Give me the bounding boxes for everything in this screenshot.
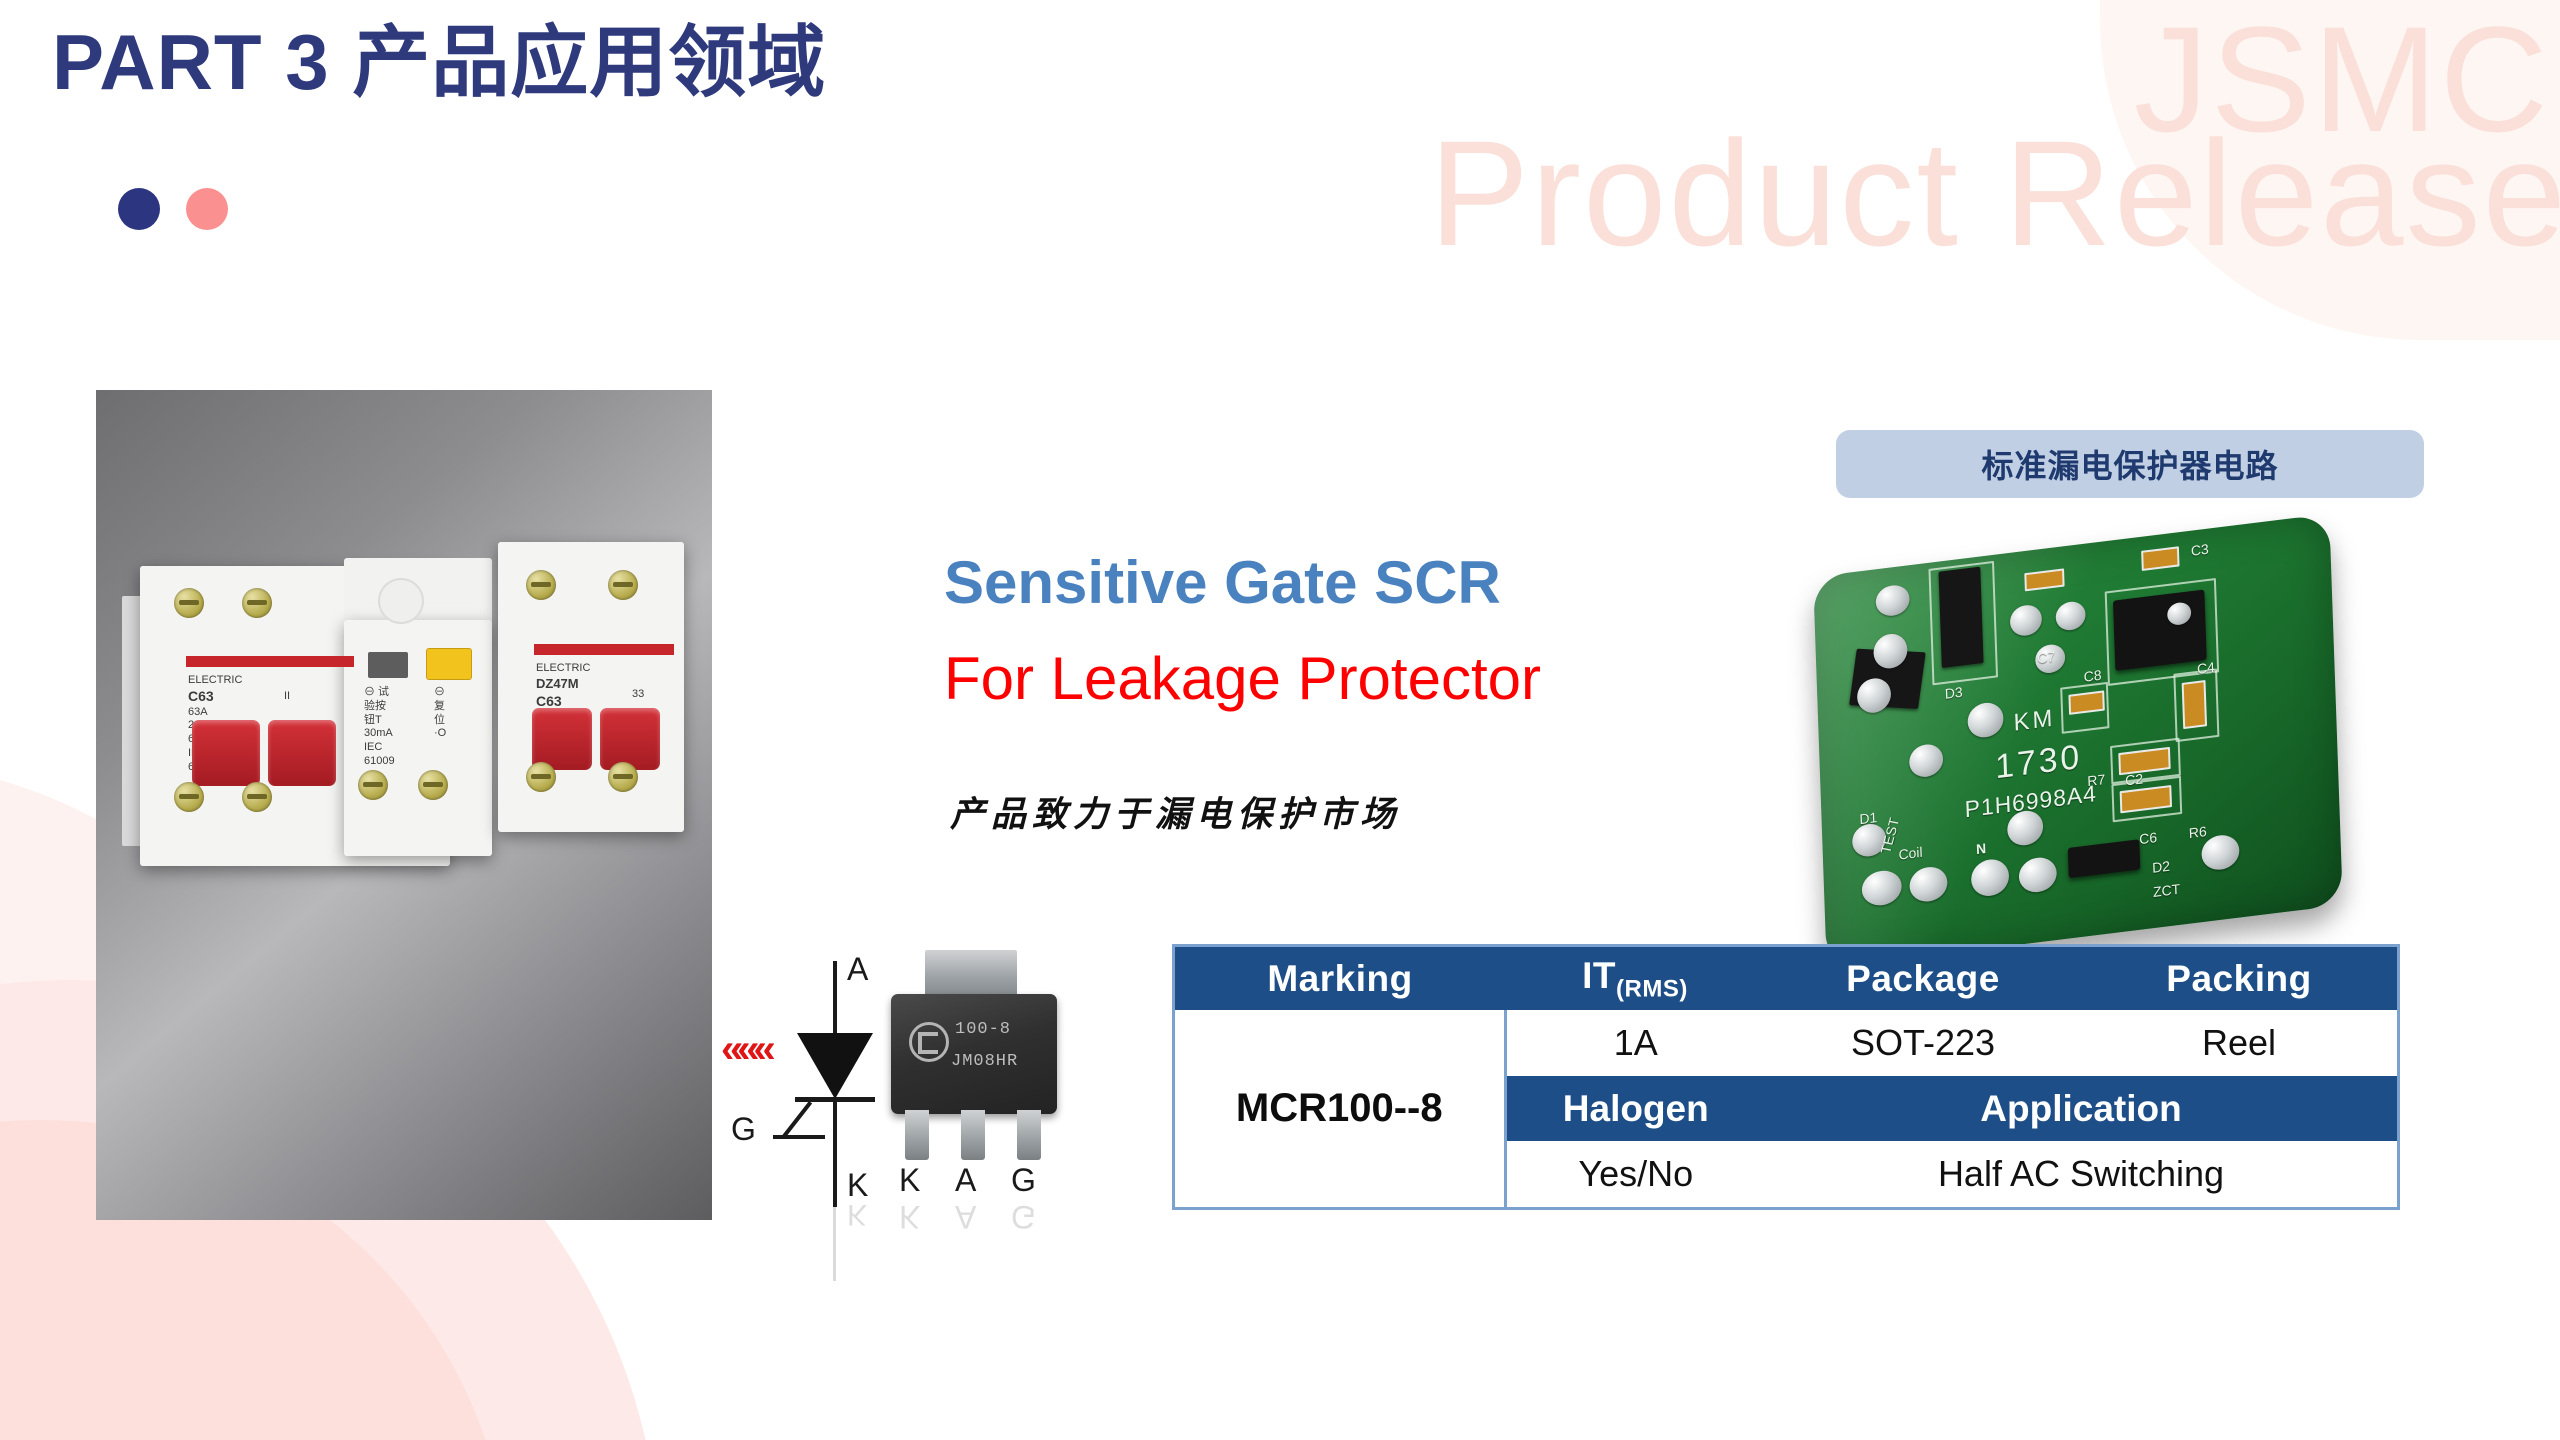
package-pin-label-a: A: [955, 1162, 976, 1199]
pcb-silk-c8: C8: [2083, 667, 2101, 685]
slide-canvas: JSMC Product Release PART 3 产品应用领域 ELECT…: [0, 0, 2560, 1440]
pcb-silk-n: N: [1976, 840, 1987, 857]
cell-package: SOT-223: [1765, 1010, 2081, 1076]
scr-cathode-reflection: K: [847, 1197, 867, 1231]
pcb-silk-c3: C3: [2191, 541, 2209, 559]
package-pin-label-k: K: [899, 1162, 920, 1199]
pcb-silk-c4: C4: [2197, 659, 2215, 677]
pcb-silk-c2: C2: [2125, 770, 2143, 788]
sot223-package-photo: 100-8 JM08HR K A G K A G: [885, 950, 1061, 1190]
header-it-text: IT: [1582, 955, 1616, 996]
cell-packing: Reel: [2081, 1010, 2397, 1076]
cell-marking-value: MCR100--8: [1175, 1010, 1505, 1207]
accent-dot-navy: [118, 188, 160, 230]
pcb-photo: KM 1730 P1H6998A4 D1 D2 D3 C2 C3 C4 C6 C…: [1788, 528, 2388, 948]
package-pin-label-g: G: [1011, 1162, 1036, 1199]
page-title: PART 3 产品应用领域: [52, 22, 826, 104]
spec-table: Marking IT(RMS) Package Packing MCR100--…: [1172, 944, 2400, 1210]
cell-current: 1A: [1505, 1010, 1765, 1076]
pcb-board: KM 1730 P1H6998A4 D1 D2 D3 C2 C3 C4 C6 C…: [1813, 514, 2343, 969]
header-package: Package: [1765, 947, 2081, 1010]
scr-gate-label: G: [731, 1111, 756, 1148]
cell-halogen: Yes/No: [1505, 1141, 1765, 1207]
header-packing: Packing: [2081, 947, 2397, 1010]
pcb-silk-r6: R6: [2189, 823, 2207, 841]
package-marking-line1: 100-8: [955, 1020, 1011, 1039]
scr-anode-label: A: [847, 951, 868, 988]
package-pin-2: [961, 1110, 985, 1160]
package-pin-label-a-reflection: A: [955, 1198, 976, 1235]
pcb-silk-c6: C6: [2139, 829, 2157, 847]
pcb-silk-zct: ZCT: [2153, 881, 2181, 900]
header-it-rms: IT(RMS): [1505, 947, 1765, 1010]
trigger-chevrons-icon: «««: [721, 1027, 770, 1072]
subheader-halogen: Halogen: [1505, 1076, 1765, 1142]
headline-chinese-tagline: 产品致力于漏电保护市场: [950, 786, 1401, 837]
pcb-silk-d2: D2: [2152, 858, 2170, 876]
headline-english-primary: Sensitive Gate SCR: [944, 548, 1501, 617]
pcb-silk-datecode: 1730: [1995, 738, 2083, 788]
package-body: 100-8 JM08HR: [891, 994, 1057, 1114]
pcb-silk-r7: R7: [2087, 771, 2105, 789]
pcb-silk-d1: D1: [1859, 809, 1877, 827]
pcb-callout-label: 标准漏电保护器电路: [1836, 430, 2424, 498]
header-it-subscript: (RMS): [1616, 975, 1688, 1002]
pcb-silk-brand: KM: [2013, 705, 2056, 738]
header-marking: Marking: [1175, 947, 1505, 1010]
subheader-application: Application: [1765, 1076, 2397, 1142]
package-pin-1: [905, 1110, 929, 1160]
package-pin-label-g-reflection: G: [1011, 1198, 1036, 1235]
pcb-callout-text: 标准漏电保护器电路: [1981, 441, 2278, 487]
title-accent-dots: [118, 188, 228, 230]
package-pin-label-k-reflection: K: [899, 1198, 920, 1235]
cell-application: Half AC Switching: [1765, 1141, 2397, 1207]
accent-dot-pink: [186, 188, 228, 230]
table-row: MCR100--8 1A SOT-223 Reel: [1175, 1010, 2397, 1076]
pcb-silk-coil: Coil: [1898, 844, 1923, 863]
pcb-silk-d3: D3: [1944, 684, 1962, 702]
pcb-silk-c7: C7: [2037, 648, 2055, 666]
manufacturer-logo-icon: [909, 1022, 949, 1062]
package-pin-3: [1017, 1110, 1041, 1160]
table-header-row: Marking IT(RMS) Package Packing: [1175, 947, 2397, 1010]
package-marking-line2: JM08HR: [951, 1052, 1018, 1071]
circuit-breaker-photo: ELECTRICC6363A230V~6000 ICnIEC/EN 60898 …: [96, 390, 712, 1220]
headline-english-secondary: For Leakage Protector: [944, 644, 1541, 713]
watermark-subtitle: Product Release: [1429, 118, 2560, 268]
